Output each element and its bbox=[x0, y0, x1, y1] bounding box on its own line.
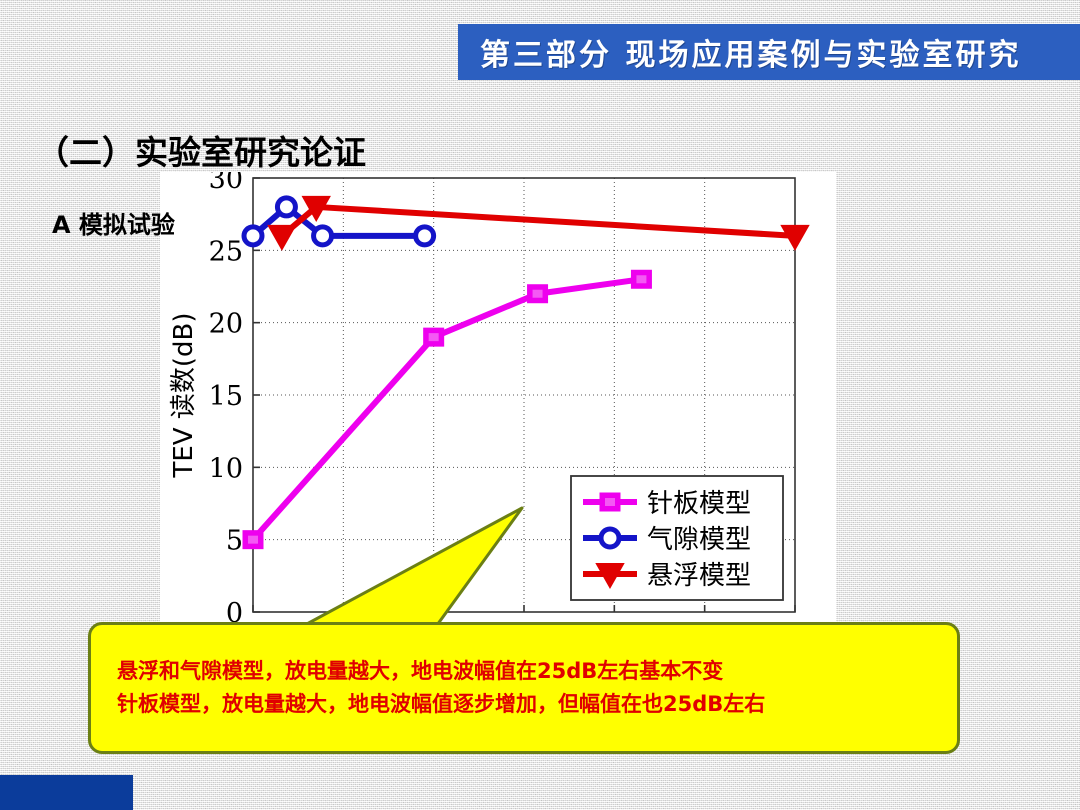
svg-text:10: 10 bbox=[209, 453, 243, 484]
footer-accent-block bbox=[0, 775, 133, 810]
svg-text:针板模型: 针板模型 bbox=[647, 489, 751, 519]
callout-line-1: 悬浮和气隙模型，放电量越大，地电波幅值在25dB左右基本不变 bbox=[117, 655, 957, 688]
svg-text:30: 30 bbox=[209, 172, 243, 195]
svg-text:0: 0 bbox=[226, 598, 243, 622]
callout-line-2: 针板模型，放电量越大，地电波幅值逐步增加，但幅值在也25dB左右 bbox=[117, 688, 957, 721]
svg-text:15: 15 bbox=[209, 381, 243, 412]
header-banner: 第三部分 现场应用案例与实验室研究 bbox=[458, 24, 1080, 80]
svg-text:20: 20 bbox=[209, 309, 243, 340]
svg-text:5: 5 bbox=[226, 526, 243, 557]
svg-text:25: 25 bbox=[209, 236, 243, 267]
svg-text:TEV 读数(dB): TEV 读数(dB) bbox=[169, 313, 199, 479]
callout-annotation: 悬浮和气隙模型，放电量越大，地电波幅值在25dB左右基本不变 针板模型，放电量越… bbox=[88, 622, 960, 754]
section-subtitle: A 模拟试验 bbox=[52, 205, 175, 240]
header-banner-title: 第三部分 现场应用案例与实验室研究 bbox=[480, 30, 1021, 74]
tev-line-chart: 200300400500600700800051015202530TEV 读数(… bbox=[160, 172, 836, 622]
svg-text:悬浮模型: 悬浮模型 bbox=[647, 561, 751, 591]
svg-text:气隙模型: 气隙模型 bbox=[647, 525, 751, 555]
page-title: （二）实验室研究论证 bbox=[36, 126, 366, 174]
chart-container: 200300400500600700800051015202530TEV 读数(… bbox=[160, 172, 836, 622]
